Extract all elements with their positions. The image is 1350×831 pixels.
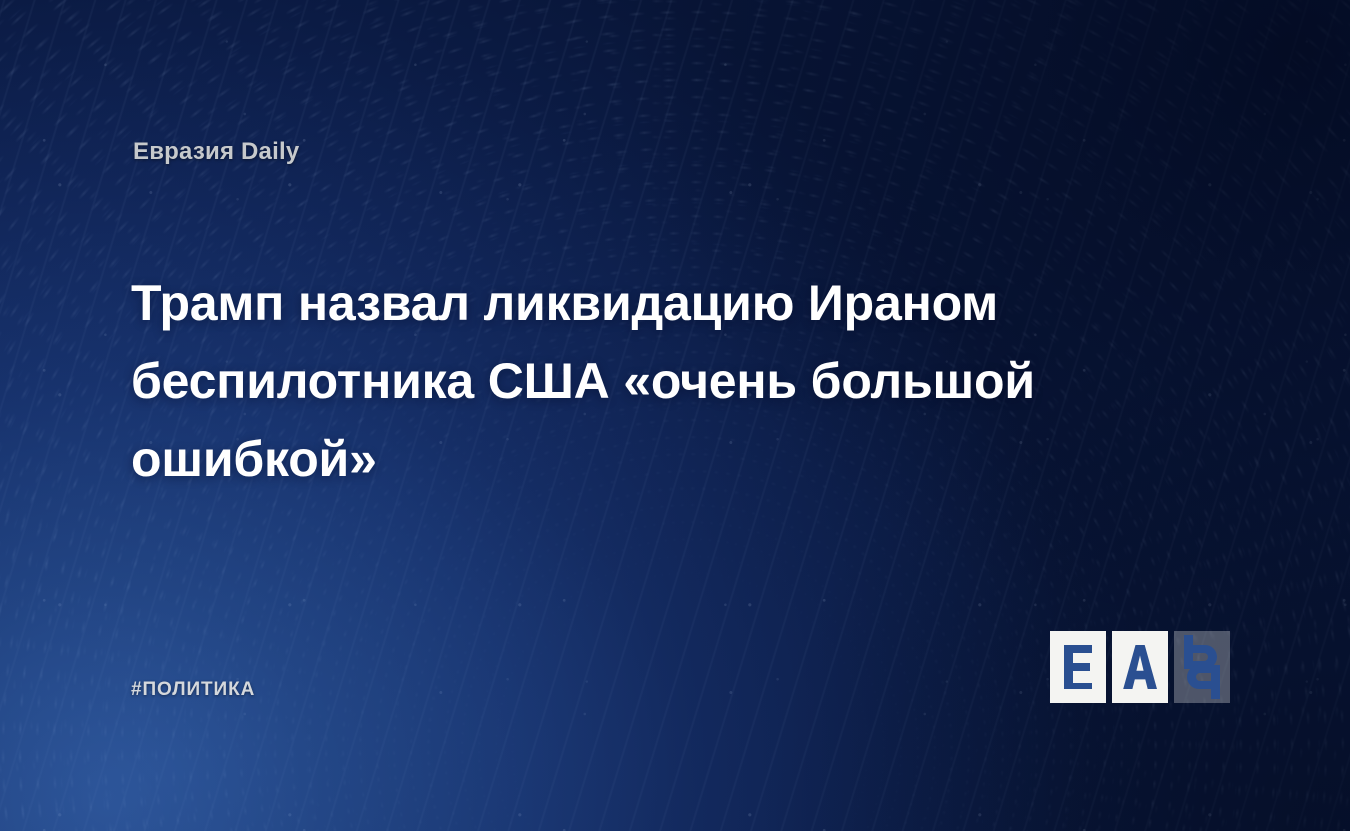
hashtag-politika[interactable]: #ПОЛИТИКА [131,679,255,701]
logo-tile-e [1050,631,1106,703]
logo-letter-a-icon [1121,643,1159,691]
logo-tile-d [1174,631,1230,703]
logo-letter-e-icon [1061,643,1095,691]
headline: Трамп назвал ликвидацию Ираном беспилотн… [131,264,1111,498]
brand-name: Евразия Daily [133,138,299,166]
logo-tile-a [1112,631,1168,703]
card-content: Евразия Daily Трамп назвал ликвидацию Ир… [0,0,1350,831]
news-card: Евразия Daily Трамп назвал ликвидацию Ир… [0,0,1350,831]
logo-letter-d-icon [1180,635,1224,699]
eadaily-logo [1050,631,1230,703]
